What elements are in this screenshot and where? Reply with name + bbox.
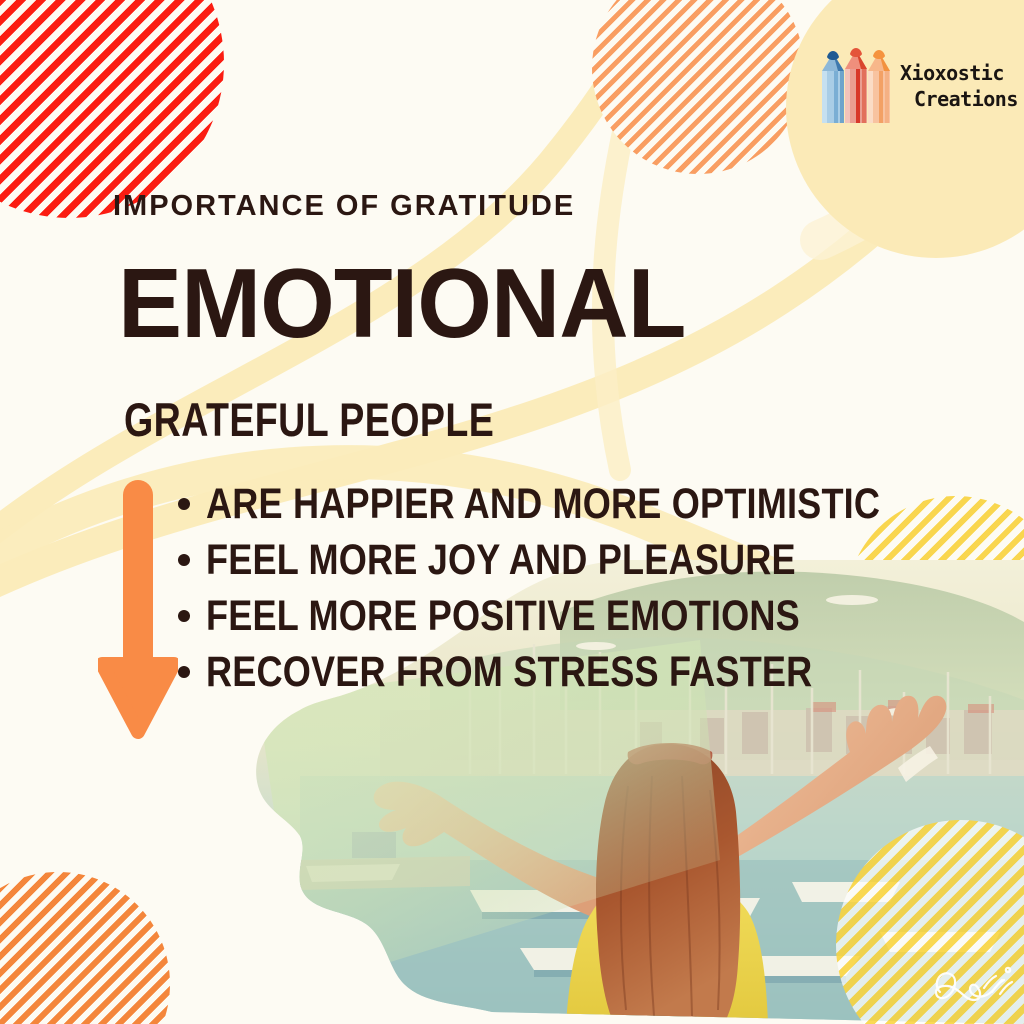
brand-logo: Xioxostic Creations — [818, 28, 1014, 146]
list-item-label: RECOVER FROM STRESS FASTER — [206, 648, 812, 697]
bullet-dot-icon — [178, 666, 190, 678]
list-item: RECOVER FROM STRESS FASTER — [178, 648, 938, 704]
down-arrow-icon — [98, 480, 178, 746]
script-signature-watermark — [930, 958, 1016, 1016]
brand-logo-line-1: Xioxostic — [900, 61, 1018, 87]
subheading-text: GRATEFUL PEOPLE — [124, 396, 494, 443]
brand-logo-text: Xioxostic Creations — [900, 61, 1018, 112]
eyebrow-text: IMPORTANCE OF GRATITUDE — [113, 190, 575, 223]
list-item: ARE HAPPIER AND MORE OPTIMISTIC — [178, 480, 938, 536]
list-item-label: FEEL MORE JOY AND PLEASURE — [206, 536, 796, 585]
list-item: FEEL MORE POSITIVE EMOTIONS — [178, 592, 938, 648]
list-item: FEEL MORE JOY AND PLEASURE — [178, 536, 938, 592]
bullet-dot-icon — [178, 554, 190, 566]
brand-logo-line-2: Creations — [900, 87, 1018, 113]
list-item-label: FEEL MORE POSITIVE EMOTIONS — [206, 592, 800, 641]
page-title: EMOTIONAL — [118, 254, 685, 352]
poster-canvas: IMPORTANCE OF GRATITUDE EMOTIONAL GRATEF… — [0, 0, 1024, 1024]
bullet-dot-icon — [178, 610, 190, 622]
three-pencils-icon — [818, 41, 896, 133]
benefits-list: ARE HAPPIER AND MORE OPTIMISTIC FEEL MOR… — [178, 480, 938, 704]
list-item-label: ARE HAPPIER AND MORE OPTIMISTIC — [206, 480, 880, 529]
bullet-dot-icon — [178, 498, 190, 510]
